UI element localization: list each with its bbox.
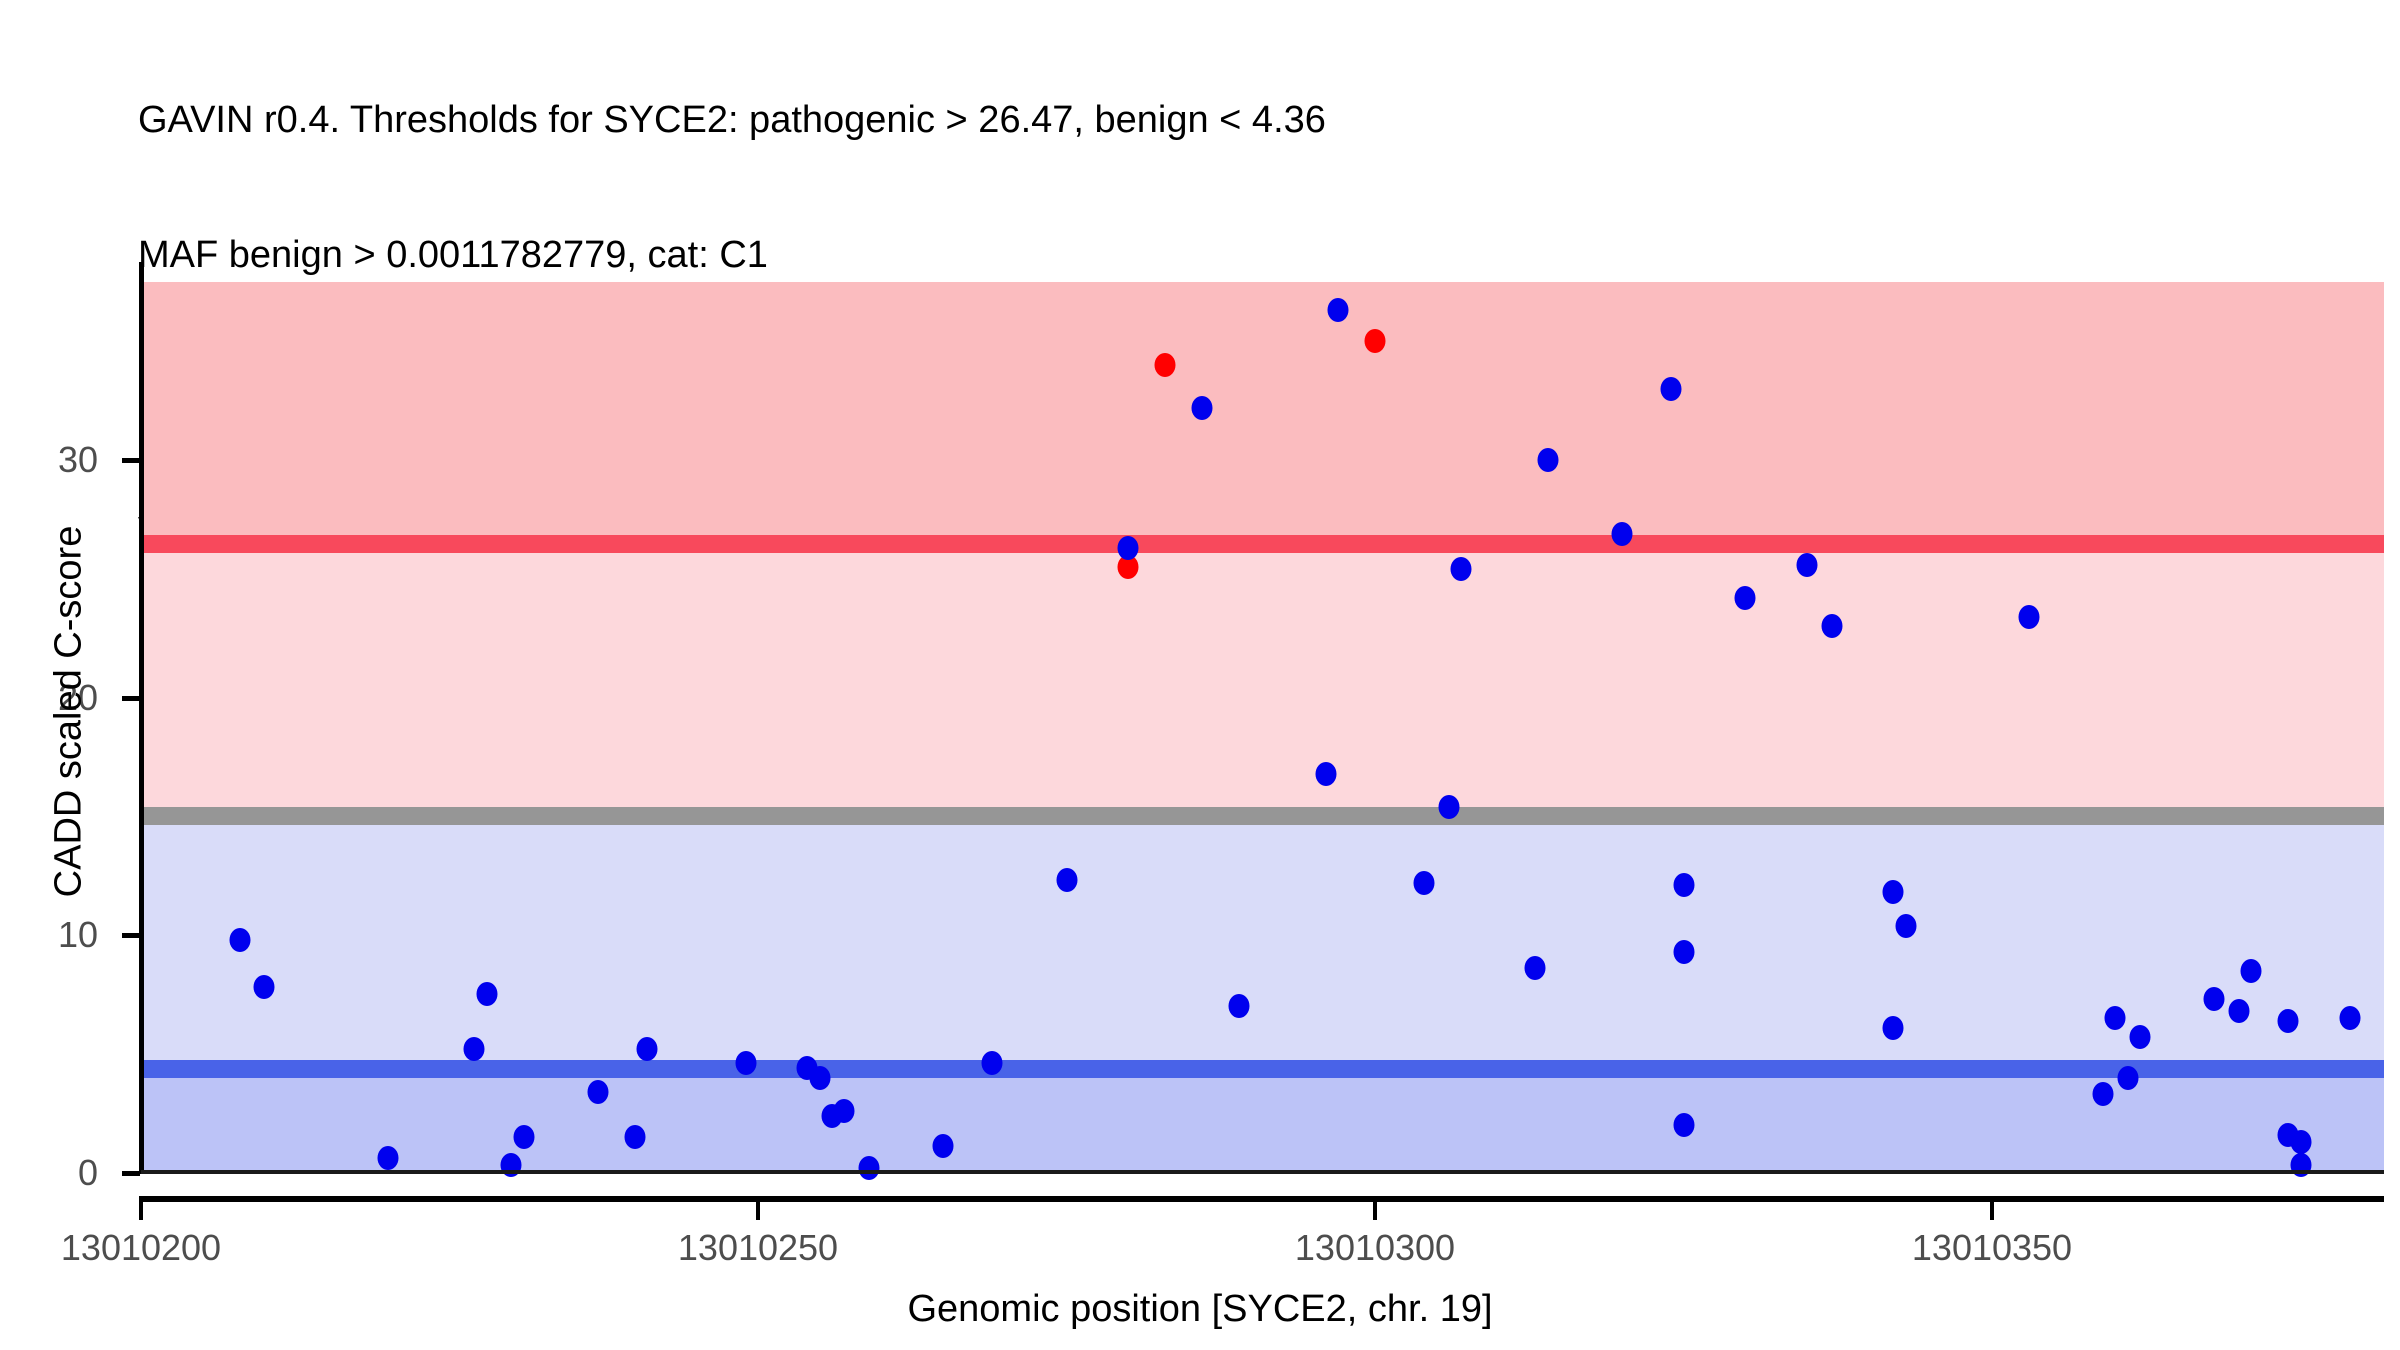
gnomad-variant-point (377, 1146, 398, 1170)
y-axis-tick (122, 933, 140, 938)
gnomad-variant-point (587, 1080, 608, 1104)
gnomad-variant-point (1796, 553, 1817, 577)
gnomad-variant-point (1661, 377, 1682, 401)
gnomad-variant-point (1192, 396, 1213, 420)
y-axis-tick (122, 458, 140, 463)
y-axis-title: CADD scaled C-score (48, 332, 91, 1092)
gnomad-variant-point (1883, 1016, 1904, 1040)
gnomad-variant-point (464, 1037, 485, 1061)
gnomad-variant-point (2019, 605, 2040, 629)
fallback-threshold-line (141, 807, 2384, 825)
gnomad-variant-point (229, 928, 250, 952)
y-axis-line (139, 262, 144, 1174)
gnomad-variant-point (1611, 522, 1632, 546)
gnomad-variant-point (1673, 940, 1694, 964)
gnomad-variant-point (735, 1051, 756, 1075)
x-axis-tick-label: 13010350 (1832, 1228, 2152, 1268)
gnomad-variant-point (1315, 762, 1336, 786)
gnomad-variant-point (809, 1066, 830, 1090)
gnomad-variant-point (859, 1156, 880, 1180)
gnomad-variant-point (982, 1051, 1003, 1075)
gnomad-variant-point (2093, 1082, 2114, 1106)
clinvar-pathogenic-point (1365, 329, 1386, 353)
y-axis-tick (122, 696, 140, 701)
pathogenic-band (141, 282, 2384, 544)
gnomad-variant-point (2278, 1009, 2299, 1033)
panel-bottom-rule (141, 1170, 2384, 1174)
gnomad-variant-point (1118, 536, 1139, 560)
gnomad-variant-point (822, 1104, 843, 1128)
gnomad-variant-point (513, 1125, 534, 1149)
gnomad-variant-point (1673, 873, 1694, 897)
gnomad-variant-point (636, 1037, 657, 1061)
gnomad-variant-point (1525, 956, 1546, 980)
benign-upper-band (141, 816, 2384, 1069)
gnomad-variant-point (2241, 959, 2262, 983)
gnomad-variant-point (1735, 586, 1756, 610)
gnomad-variant-point (624, 1125, 645, 1149)
pathogenic-threshold-line (141, 535, 2384, 553)
gnomad-variant-point (2339, 1006, 2360, 1030)
plot-panel (141, 262, 2384, 1172)
gnomad-variant-point (2117, 1066, 2138, 1090)
x-axis-line (139, 1196, 2384, 1202)
x-axis-tick (756, 1202, 760, 1220)
gnomad-variant-point (1895, 914, 1916, 938)
x-axis-tick (1373, 1202, 1377, 1220)
x-axis-tick-label: 13010200 (0, 1228, 301, 1268)
gnomad-variant-point (2130, 1025, 2151, 1049)
benign-lower-band (141, 1069, 2384, 1172)
title-line-1: GAVIN r0.4. Thresholds for SYCE2: pathog… (138, 98, 2338, 143)
gnomad-variant-point (254, 975, 275, 999)
gnomad-variant-point (1229, 994, 1250, 1018)
gnomad-variant-point (1439, 795, 1460, 819)
gnomad-variant-point (2290, 1130, 2311, 1154)
benign-threshold-line (141, 1060, 2384, 1078)
gnomad-variant-point (1821, 614, 1842, 638)
gnomad-variant-point (2204, 987, 2225, 1011)
gnomad-variant-point (1414, 871, 1435, 895)
gnomad-variant-point (1883, 880, 1904, 904)
gnomad-variant-point (1673, 1113, 1694, 1137)
gnomad-variant-point (2228, 999, 2249, 1023)
intermediate-band (141, 544, 2384, 816)
y-axis-tick (122, 1171, 140, 1176)
gnomad-variant-point (2105, 1006, 2126, 1030)
clinvar-pathogenic-point (1155, 353, 1176, 377)
x-axis-tick-label: 13010300 (1215, 1228, 1535, 1268)
x-axis-tick (139, 1202, 143, 1220)
x-axis-tick-label: 13010250 (598, 1228, 918, 1268)
gnomad-variant-point (933, 1134, 954, 1158)
gnomad-variant-point (1537, 448, 1558, 472)
x-axis-tick (1990, 1202, 1994, 1220)
gnomad-variant-point (1451, 557, 1472, 581)
gnomad-variant-point (1056, 868, 1077, 892)
gnomad-variant-point (1327, 298, 1348, 322)
y-axis-tick-label: 0 (0, 1155, 98, 1191)
x-axis-title: Genomic position [SYCE2, chr. 19] (0, 1288, 2400, 1331)
gnomad-variant-point (476, 982, 497, 1006)
